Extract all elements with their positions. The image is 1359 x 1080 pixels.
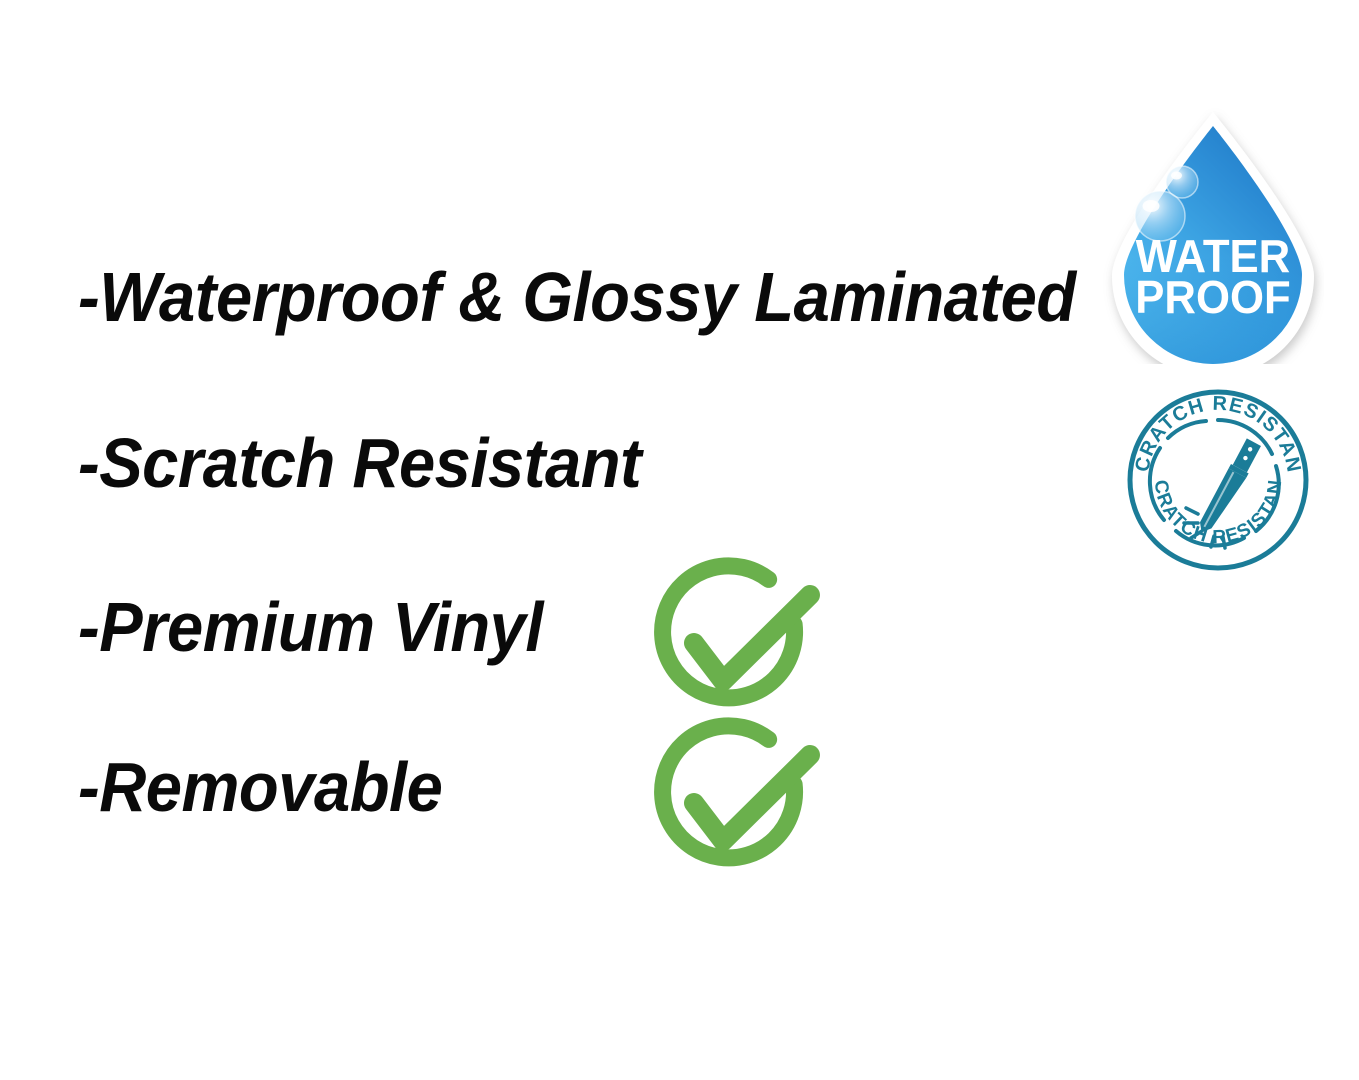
waterproof-badge: WATER PROOF [1102, 108, 1324, 364]
feature-item-scratch-resistant: -Scratch Resistant [78, 428, 641, 498]
waterproof-line2: PROOF [1135, 271, 1290, 323]
feature-item-waterproof: -Waterproof & Glossy Laminated [78, 262, 1076, 332]
feature-item-premium-vinyl: -Premium Vinyl [78, 592, 543, 662]
product-features-graphic: -Waterproof & Glossy Laminated -Scratch … [0, 0, 1359, 1080]
svg-text:SCRATCH RESISTANT: SCRATCH RESISTANT [1124, 386, 1305, 475]
checkmark-circle-icon [638, 707, 828, 897]
feature-item-removable: -Removable [78, 752, 442, 822]
scratch-resistant-badge: SCRATCH RESISTANT SCRATCH RESISTANT [1124, 386, 1312, 574]
scratch-top-text: SCRATCH RESISTANT [1124, 386, 1305, 475]
